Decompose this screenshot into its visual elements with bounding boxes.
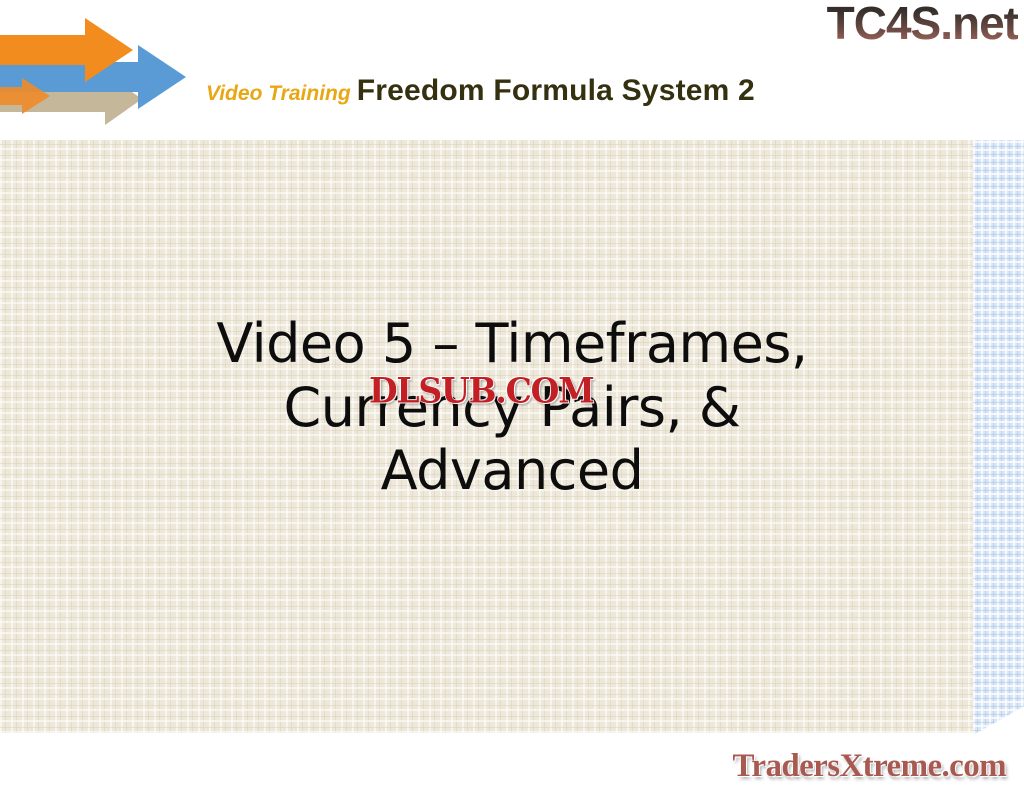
- tradersxtreme-footer-logo: TradersXtreme.com: [732, 748, 1006, 785]
- triple-arrow-graphic: [0, 18, 202, 128]
- slide-title-line-1: Video 5 – Timeframes,: [112, 312, 912, 376]
- header-title-group: Video TrainingFreedom Formula System 2: [206, 76, 755, 106]
- tc4s-brand-logo: TC4S.net: [827, 0, 1018, 50]
- presentation-slide: Video TrainingFreedom Formula System 2 T…: [0, 0, 1024, 791]
- header-eyebrow-label: Video Training: [206, 82, 351, 105]
- page-title: Freedom Formula System 2: [357, 74, 755, 107]
- slide-title-line-3: Advanced: [112, 439, 912, 503]
- accent-side-strip: [973, 112, 1024, 735]
- dlsub-watermark: DLSUB.COM: [369, 370, 594, 411]
